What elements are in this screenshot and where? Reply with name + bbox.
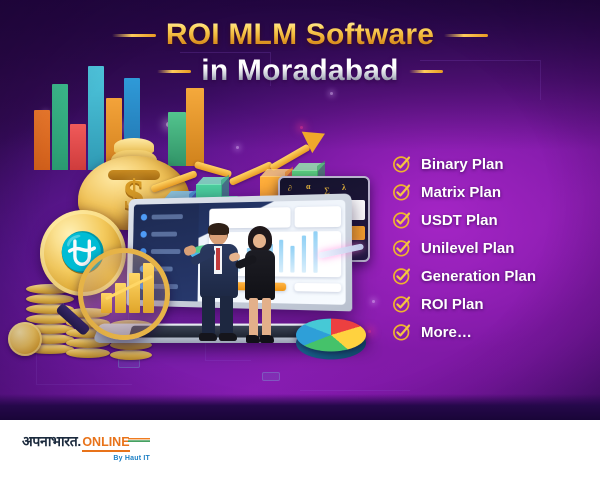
footer: अपनाभारत . ONLINE By Haut IT www.apnabha… — [0, 420, 600, 480]
feature-label: ROI Plan — [421, 296, 484, 313]
feature-label: Binary Plan — [421, 156, 504, 173]
brand-tld-text: ONLINE — [82, 435, 129, 452]
feature-item-more[interactable]: More… — [392, 318, 592, 346]
accent-dash-left — [112, 34, 156, 37]
feature-item-generation-plan[interactable]: Generation Plan — [392, 262, 592, 290]
tricolor-accent-icon — [128, 429, 150, 432]
feature-label: Generation Plan — [421, 268, 536, 285]
circled-check-icon — [392, 266, 412, 286]
bottom-shade — [0, 394, 600, 420]
brand-logo[interactable]: अपनाभारत . ONLINE By Haut IT — [22, 432, 150, 462]
accent-dash-right-2 — [409, 70, 443, 73]
feature-item-roi-plan[interactable]: ROI Plan — [392, 290, 592, 318]
accent-dash-right — [444, 34, 488, 37]
circled-check-icon — [392, 238, 412, 258]
brand-hindi-text: अपनाभारत — [22, 432, 77, 451]
feature-item-binary-plan[interactable]: Binary Plan — [392, 150, 592, 178]
circled-check-icon — [392, 294, 412, 314]
headline-line2: in Moradabad — [201, 54, 398, 88]
circled-check-icon — [392, 210, 412, 230]
accent-dash-left-2 — [157, 70, 191, 73]
feature-list: Binary Plan Matrix Plan USDT Plan — [392, 150, 592, 346]
brand-byline: By Haut IT — [22, 455, 150, 462]
circled-check-icon — [392, 322, 412, 342]
circled-check-icon — [392, 154, 412, 174]
brand-dot: . — [77, 433, 81, 449]
poster: $ ⛎ — [0, 0, 600, 480]
feature-label: USDT Plan — [421, 212, 498, 229]
feature-label: Unilevel Plan — [421, 240, 514, 257]
feature-item-matrix-plan[interactable]: Matrix Plan — [392, 178, 592, 206]
feature-label: Matrix Plan — [421, 184, 501, 201]
headline-line1: ROI MLM Software — [166, 18, 434, 52]
headline: ROI MLM Software in Moradabad — [0, 18, 600, 88]
feature-item-unilevel-plan[interactable]: Unilevel Plan — [392, 234, 592, 262]
circled-check-icon — [392, 182, 412, 202]
feature-item-usdt-plan[interactable]: USDT Plan — [392, 206, 592, 234]
feature-label: More… — [421, 324, 472, 341]
